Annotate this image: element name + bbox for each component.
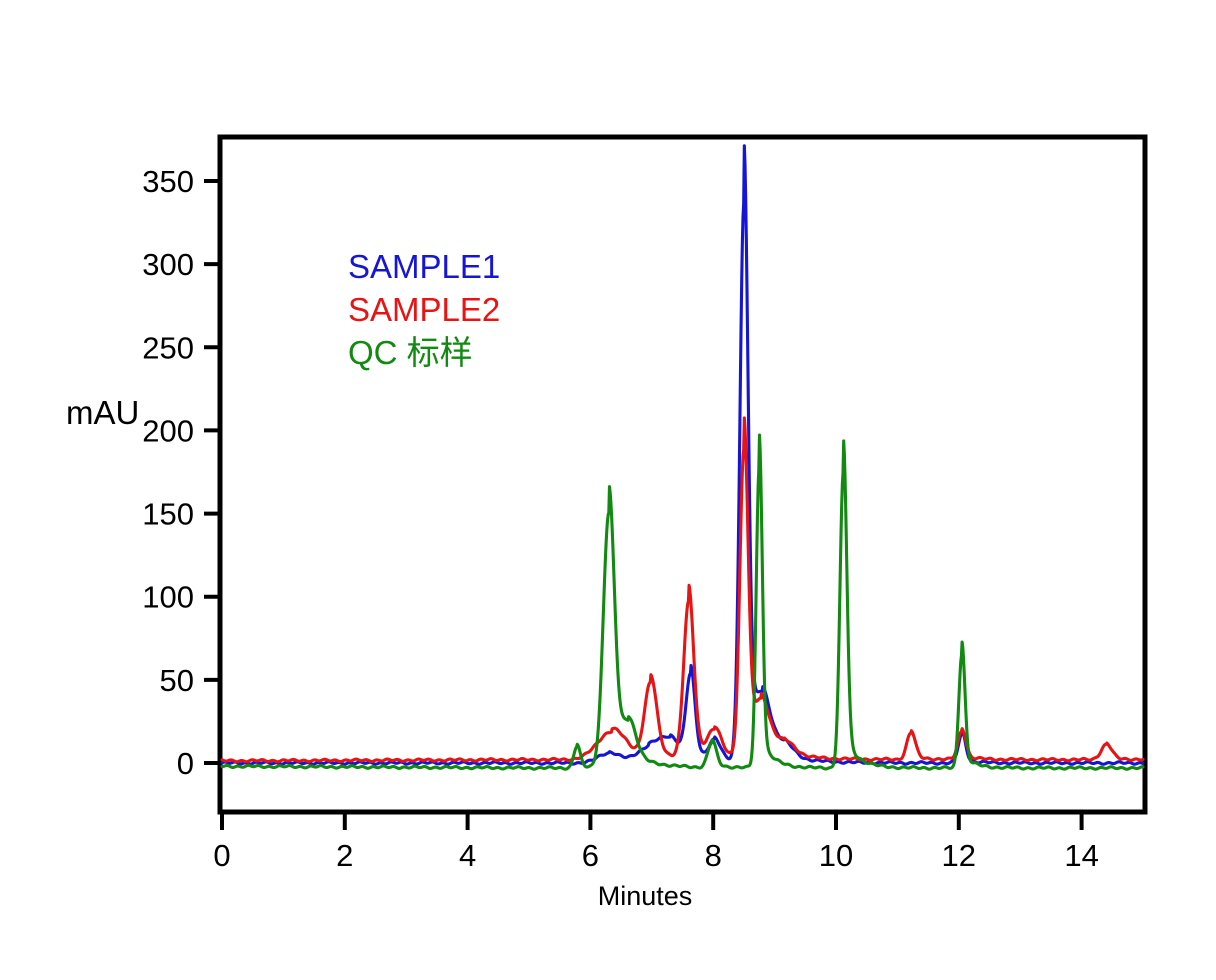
legend-item-2: SAMPLE2: [348, 291, 500, 328]
chromatogram-canvas: 050100150200250300350 02468101214 mAU Mi…: [0, 0, 1216, 980]
y-tick-label: 150: [142, 497, 194, 532]
plot-frame: [220, 137, 1145, 812]
chromatogram-figure: 050100150200250300350 02468101214 mAU Mi…: [0, 0, 1216, 980]
x-tick-label: 2: [336, 838, 353, 873]
y-tick-label: 250: [142, 330, 194, 365]
y-tick-label: 50: [160, 663, 194, 698]
y-tick-label: 100: [142, 580, 194, 615]
x-tick-label: 8: [705, 838, 722, 873]
x-tick-label: 14: [1064, 838, 1098, 873]
x-tick-label: 4: [459, 838, 476, 873]
legend-item-1: SAMPLE1: [348, 248, 500, 285]
x-axis-title: Minutes: [598, 881, 693, 911]
x-tick-label: 6: [582, 838, 599, 873]
y-tick-label: 350: [142, 164, 194, 199]
x-tick-label: 12: [942, 838, 976, 873]
x-tick-label: 0: [213, 838, 230, 873]
legend-item-3: QC 标样: [348, 334, 473, 371]
y-tick-label: 300: [142, 247, 194, 282]
y-axis-title: mAU: [66, 394, 139, 431]
x-axis-tick-labels: 02468101214: [213, 838, 1098, 873]
x-axis-ticks: [222, 812, 1082, 830]
y-tick-label: 200: [142, 413, 194, 448]
y-axis-tick-labels: 050100150200250300350: [142, 164, 194, 781]
y-tick-label: 0: [177, 746, 194, 781]
x-tick-label: 10: [819, 838, 853, 873]
